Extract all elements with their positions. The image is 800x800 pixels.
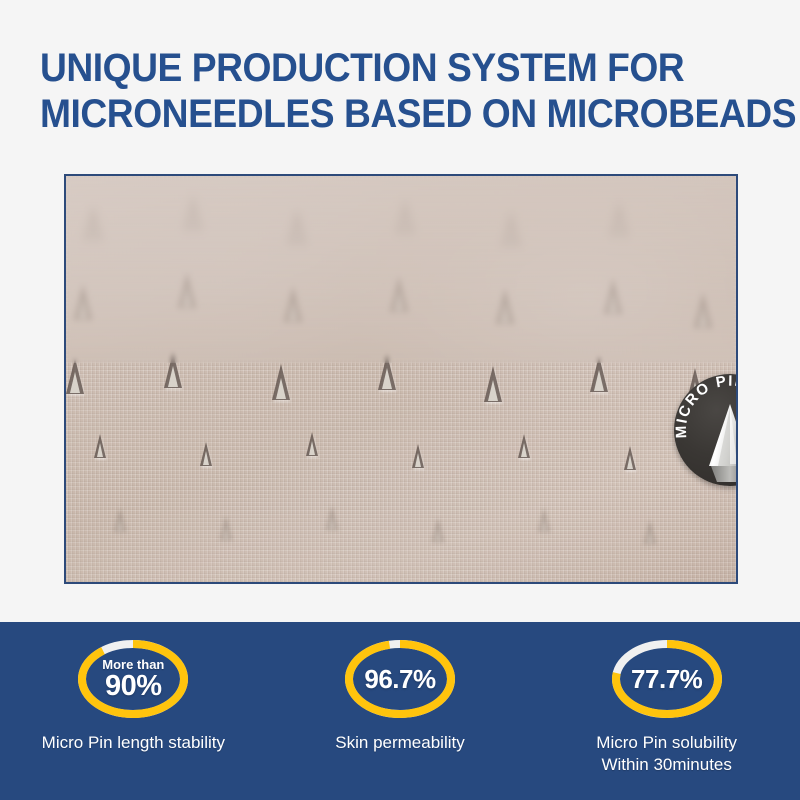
microneedle-photo-surface [66,176,736,582]
stats-bar: More than 90% Micro Pin length stability… [0,622,800,800]
microneedle-pin [496,288,514,324]
microneedle-pin [378,354,396,390]
donut-chart-1: More than 90% [74,636,192,722]
page-title-line-1: UNIQUE PRODUCTION SYSTEM FOR [40,45,728,91]
stat-2-caption: Skin permeability [335,732,464,754]
microneedle-pin [288,208,306,244]
needle-pin-icon [704,404,738,482]
microneedle-pin [184,194,202,230]
microneedle-pin [624,446,636,470]
microneedle-pin [484,366,502,402]
stat-skin-permeability: 96.7% Skin permeability [267,622,534,800]
page-title-line-2: MICRONEEDLES BASED ON MICROBEADS [40,91,728,137]
microneedle-pin [694,292,712,328]
microneedle-pin [94,434,106,458]
microneedle-pin [432,518,444,542]
microneedle-pin [326,506,338,530]
microneedle-pin [644,520,656,544]
stat-micro-pin-solubility: 77.7% Micro Pin solubility Within 30minu… [533,622,800,800]
microneedle-pin [284,286,302,322]
donut-chart-3: 77.7% [608,636,726,722]
microneedle-pin [164,352,182,388]
microneedle-pin [74,284,92,320]
microneedle-pin [396,198,414,234]
microneedle-pin [502,210,520,246]
microneedle-photo: MICRO PIN 200 [64,174,738,584]
microneedle-pin [200,442,212,466]
microneedle-pin [220,516,232,540]
stat-1-caption: Micro Pin length stability [42,732,225,754]
microneedle-pin [610,200,628,236]
microneedle-pin [412,444,424,468]
microneedle-pin [604,278,622,314]
microneedle-pin [84,204,102,240]
microneedle-pin [178,272,196,308]
microneedle-pin [590,356,608,392]
microneedle-pin [538,508,550,532]
page-title: UNIQUE PRODUCTION SYSTEM FOR MICRONEEDLE… [40,45,780,137]
donut-chart-2: 96.7% [341,636,459,722]
stat-micro-pin-length-stability: More than 90% Micro Pin length stability [0,622,267,800]
microneedle-pin [114,508,126,532]
microneedle-pin [518,434,530,458]
microneedle-pin [272,364,290,400]
microneedle-pin [66,358,84,394]
stat-3-caption: Micro Pin solubility Within 30minutes [596,732,737,776]
microneedle-pin [390,276,408,312]
microneedle-pin [306,432,318,456]
